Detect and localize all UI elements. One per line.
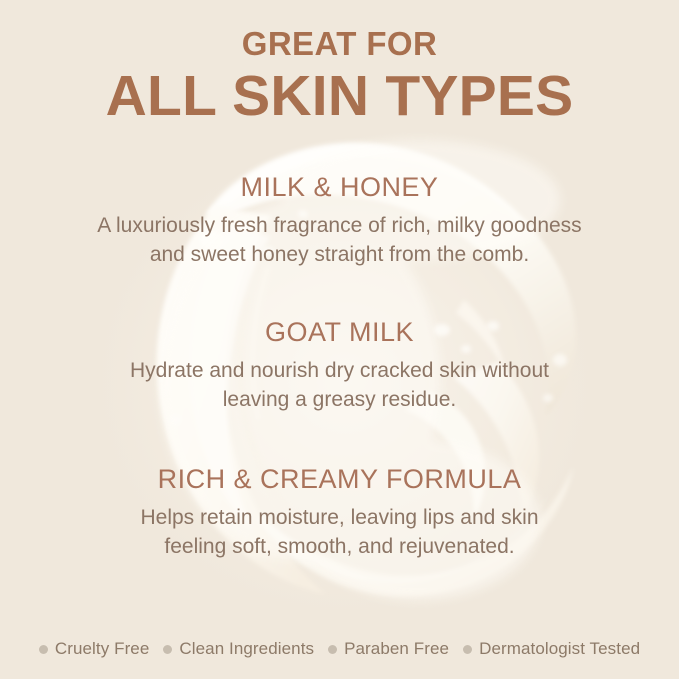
content-layer: GREAT FOR ALL SKIN TYPES MILK & HONEY A … (0, 0, 679, 679)
feature-description-line: leaving a greasy residue. (223, 388, 456, 411)
feature-description-line: Hydrate and nourish dry cracked skin wit… (130, 359, 549, 382)
feature-block-rich-creamy-formula: RICH & CREAMY FORMULA Helps retain moist… (0, 463, 679, 562)
feature-description-line: feeling soft, smooth, and rejuvenated. (164, 535, 514, 558)
feature-title-goat-milk: GOAT MILK (0, 316, 679, 348)
feature-description-line: A luxuriously fresh fragrance of rich, m… (97, 214, 581, 237)
feature-block-milk-honey: MILK & HONEY A luxuriously fresh fragran… (0, 171, 679, 270)
feature-title-rich-creamy-formula: RICH & CREAMY FORMULA (0, 463, 679, 495)
feature-description-rich-creamy-formula: Helps retain moisture, leaving lips and … (40, 503, 640, 563)
badge-label: Paraben Free (344, 639, 449, 659)
feature-description-goat-milk: Hydrate and nourish dry cracked skin wit… (40, 356, 640, 416)
feature-title-milk-honey: MILK & HONEY (0, 171, 679, 203)
feature-description-line: Helps retain moisture, leaving lips and … (140, 506, 538, 529)
hero-heading-block: GREAT FOR ALL SKIN TYPES (0, 27, 679, 129)
page-title: ALL SKIN TYPES (0, 65, 679, 129)
badge-label: Dermatologist Tested (479, 639, 640, 659)
badge-clean-ingredients: Clean Ingredients (163, 639, 314, 659)
hero-kicker: GREAT FOR (0, 27, 679, 61)
bullet-dot-icon (163, 645, 172, 654)
claims-badge-row: Cruelty Free Clean Ingredients Paraben F… (0, 639, 679, 659)
bullet-dot-icon (39, 645, 48, 654)
bullet-dot-icon (463, 645, 472, 654)
badge-label: Cruelty Free (55, 639, 150, 659)
badge-label: Clean Ingredients (179, 639, 314, 659)
feature-description-milk-honey: A luxuriously fresh fragrance of rich, m… (40, 211, 640, 271)
bullet-dot-icon (328, 645, 337, 654)
badge-paraben-free: Paraben Free (328, 639, 449, 659)
feature-block-goat-milk: GOAT MILK Hydrate and nourish dry cracke… (0, 316, 679, 415)
badge-dermatologist-tested: Dermatologist Tested (463, 639, 640, 659)
badge-cruelty-free: Cruelty Free (39, 639, 150, 659)
product-benefits-infographic: GREAT FOR ALL SKIN TYPES MILK & HONEY A … (0, 0, 679, 679)
feature-description-line: and sweet honey straight from the comb. (150, 243, 529, 266)
